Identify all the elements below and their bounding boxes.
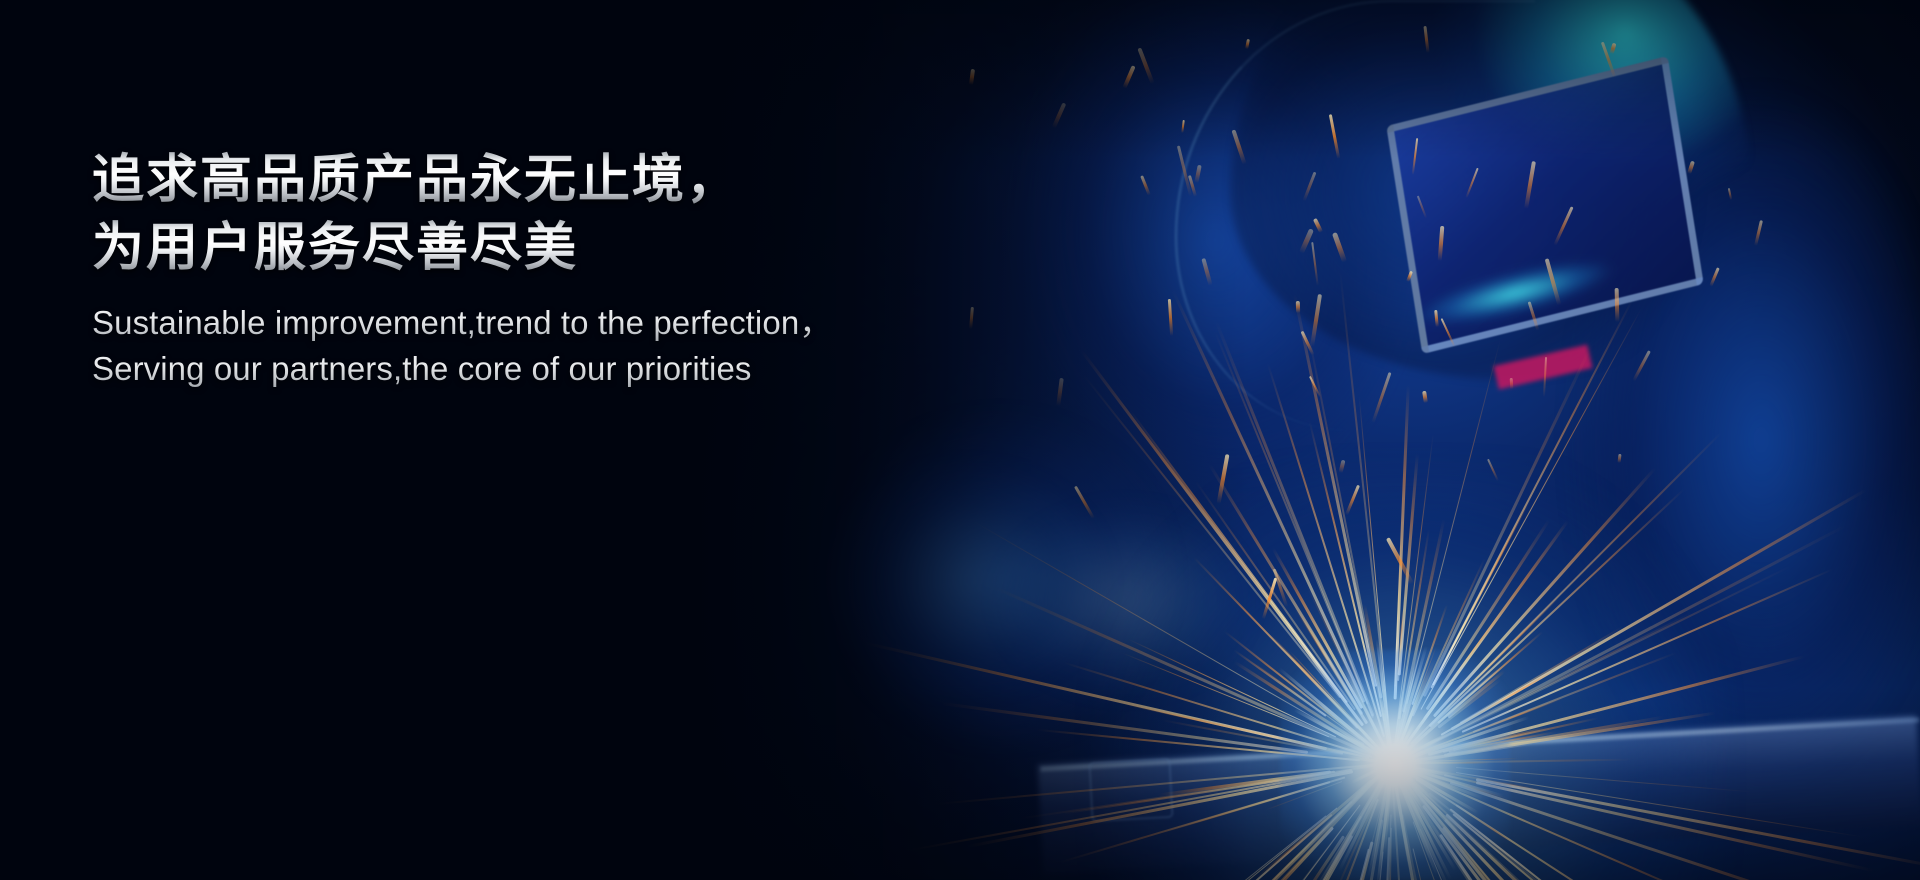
subhead-en-line-2: Serving our partners,the core of our pri… (92, 347, 992, 391)
headline-cn-line-1: 追求高品质产品永无止境， (92, 150, 992, 210)
welding-photo-background (0, 0, 1920, 880)
photo-vignette (0, 0, 1920, 880)
hero-banner: 追求高品质产品永无止境， 为用户服务尽善尽美 Sustainable impro… (0, 0, 1920, 880)
subhead-en-line-1: Sustainable improvement,trend to the per… (92, 301, 992, 345)
headline-cn-line-2: 为用户服务尽善尽美 (92, 218, 992, 278)
slogan-copy-block: 追求高品质产品永无止境， 为用户服务尽善尽美 Sustainable impro… (92, 150, 992, 391)
